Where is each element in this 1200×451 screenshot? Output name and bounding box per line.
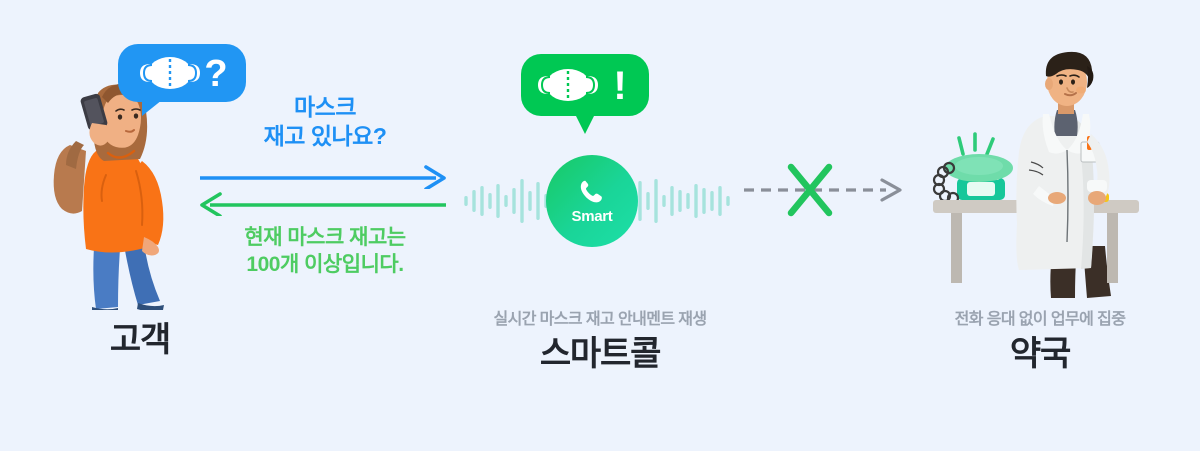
caption-pharmacy-sub: 전화 응대 없이 업무에 집중: [890, 310, 1190, 329]
soundwave-left: [462, 170, 558, 232]
infographic-canvas: ? 마스크 재고 있나요? 현재 마스크 재고는 100개 이상입니다. !: [0, 0, 1200, 451]
customer-question-text: 마스크 재고 있나요?: [196, 93, 454, 152]
request-arrow: [198, 165, 448, 189]
caption-customer-main: 고객: [20, 322, 260, 359]
caption-smartcall: 실시간 마스크 재고 안내멘트 재생 스마트콜: [432, 310, 768, 374]
svg-text:?: ?: [204, 53, 227, 95]
caption-pharmacy-main: 약국: [890, 336, 1190, 373]
pharmacist-figure: [915, 50, 1165, 300]
caption-customer: 고객: [20, 322, 260, 359]
smartcall-badge[interactable]: Smart: [546, 155, 638, 247]
blocked-call-arrow: [740, 160, 910, 220]
caption-smartcall-sub: 실시간 마스크 재고 안내멘트 재생: [432, 310, 768, 329]
phone-handset-icon: [577, 178, 607, 208]
smartcall-brand-label: Smart: [571, 209, 612, 224]
smartcall-speech-bubble: !: [521, 54, 649, 144]
smartcall-answer-text: 현재 마스크 재고는 100개 이상입니다.: [190, 225, 460, 279]
caption-pharmacy: 전화 응대 없이 업무에 집중 약국: [890, 310, 1190, 374]
soundwave-right: [636, 170, 732, 232]
ringing-desk-phone-icon: [934, 134, 1013, 203]
caption-smartcall-main: 스마트콜: [432, 336, 768, 373]
response-arrow: [198, 192, 448, 216]
svg-text:!: !: [613, 64, 626, 108]
